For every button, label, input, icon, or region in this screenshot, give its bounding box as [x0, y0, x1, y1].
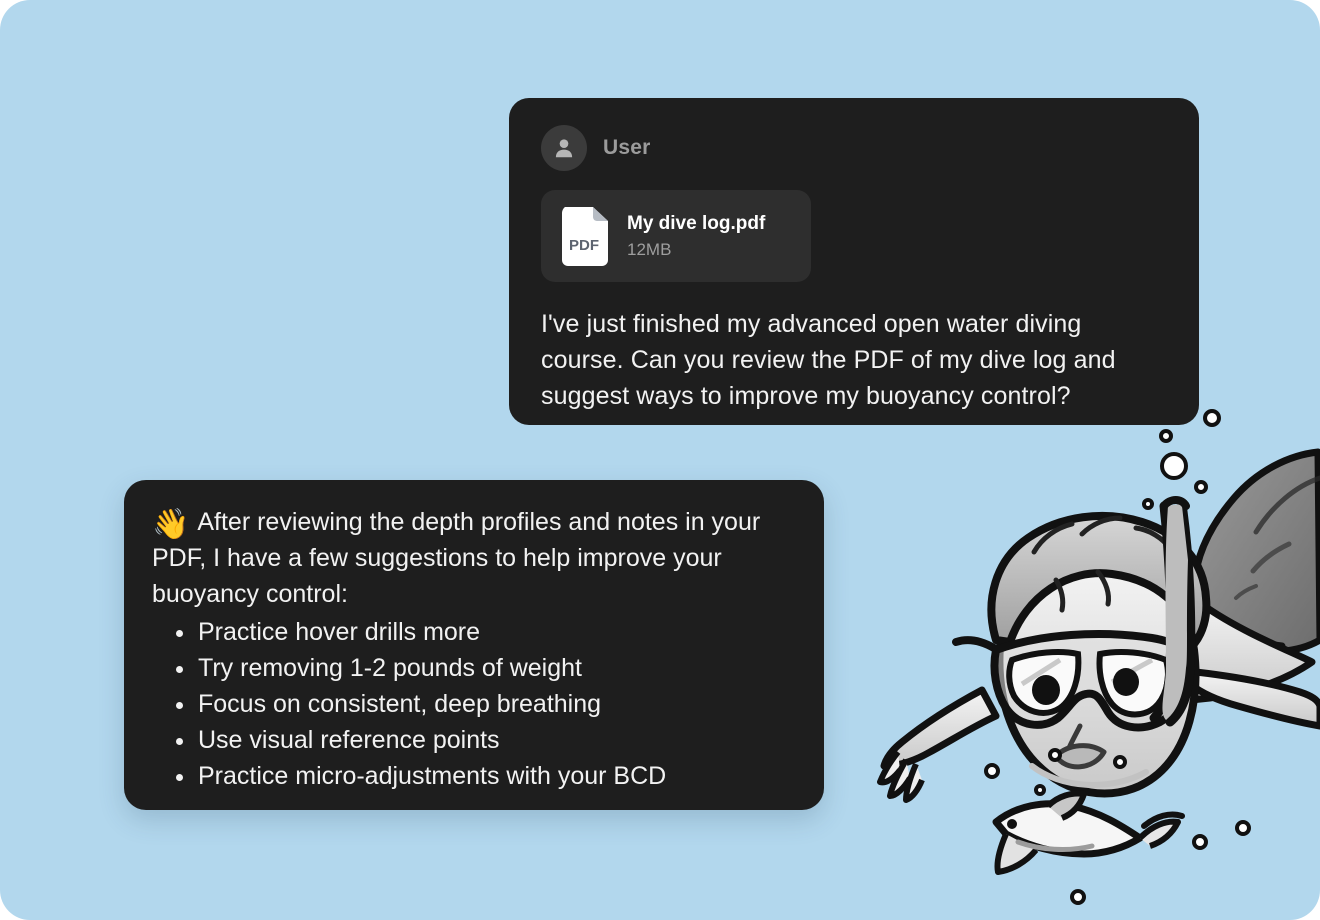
svg-text:PDF: PDF	[569, 237, 599, 254]
user-header: User	[541, 124, 1167, 172]
list-item: Focus on consistent, deep breathing	[170, 686, 794, 722]
user-message-text: I've just finished my advanced open wate…	[541, 306, 1167, 414]
diver-torso	[1072, 600, 1312, 701]
file-name: My dive log.pdf	[627, 213, 765, 235]
suggestion-list: Practice hover drills more Try removing …	[152, 614, 794, 794]
assistant-intro-text: After reviewing the depth profiles and n…	[152, 508, 760, 608]
assistant-message-bubble: 👋After reviewing the depth profiles and …	[124, 480, 824, 810]
list-item: Practice hover drills more	[170, 614, 794, 650]
screenshot-canvas: User PDF My dive log.pdf 12MB I've just …	[0, 0, 1320, 920]
snorkel	[1154, 500, 1191, 722]
person-icon	[541, 125, 587, 171]
air-bubbles	[986, 384, 1249, 903]
list-item: Use visual reference points	[170, 722, 794, 758]
diver-arm-right	[1190, 672, 1320, 726]
user-message-bubble: User PDF My dive log.pdf 12MB I've just …	[509, 98, 1199, 425]
diver-arm-left	[880, 690, 996, 800]
diver-head	[956, 500, 1206, 794]
file-meta: My dive log.pdf 12MB	[627, 213, 765, 260]
file-size: 12MB	[627, 240, 765, 260]
assistant-intro: 👋After reviewing the depth profiles and …	[152, 504, 794, 612]
wetsuit-arm	[1190, 452, 1320, 662]
fish	[996, 794, 1182, 873]
list-item: Practice micro-adjustments with your BCD	[170, 758, 794, 794]
list-item: Try removing 1-2 pounds of weight	[170, 650, 794, 686]
pdf-attachment-card[interactable]: PDF My dive log.pdf 12MB	[541, 190, 811, 282]
pdf-file-icon: PDF	[559, 204, 611, 268]
dive-mask	[994, 634, 1188, 727]
sender-name: User	[603, 136, 651, 160]
waving-hand-icon: 👋	[152, 508, 189, 541]
